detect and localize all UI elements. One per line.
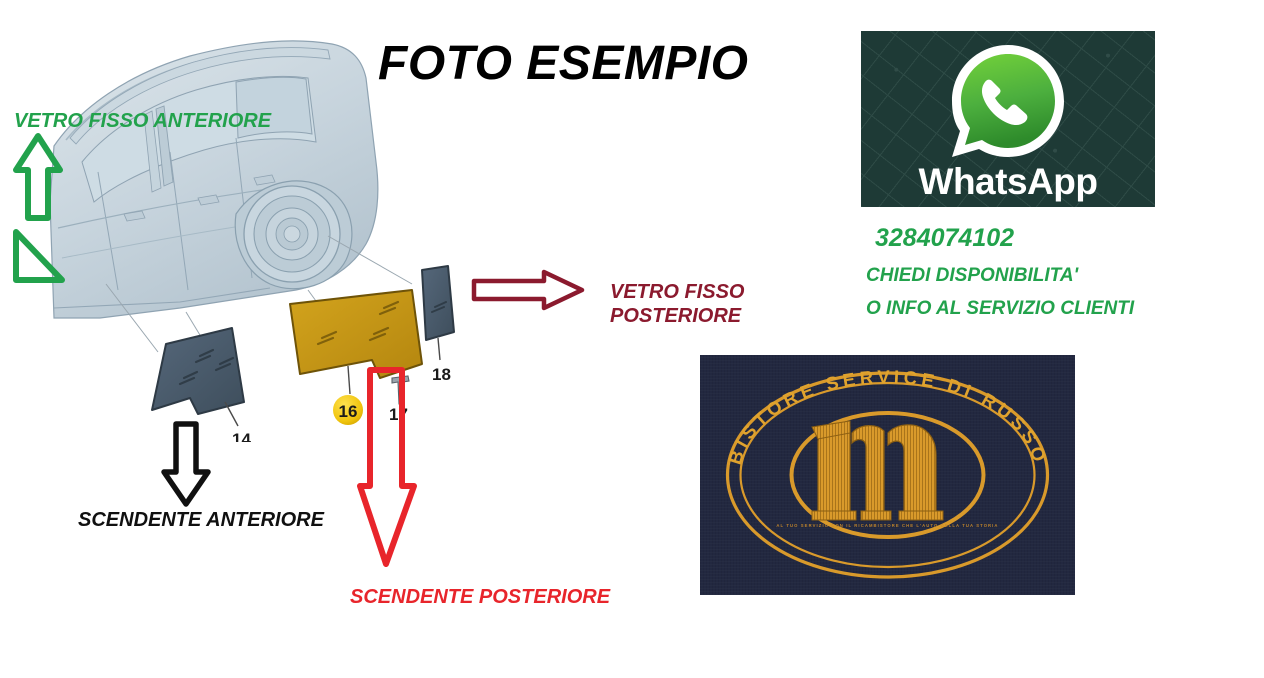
car-body-illustration: [50, 41, 378, 318]
arrow-right-icon: [470, 268, 586, 317]
logo-monogram: [812, 421, 943, 520]
label-text: SCENDENTE ANTERIORE: [78, 509, 324, 531]
svg-text:16: 16: [339, 402, 358, 421]
label-scendente-posteriore: SCENDENTE POSTERIORE: [350, 586, 610, 609]
contact-line-1: CHIEDI DISPONIBILITA': [866, 265, 1078, 287]
shop-logo-artwork: MRICAMBISTORE SERVICE DI RUSSO MARCO: [700, 355, 1075, 595]
page-title: FOTO ESEMPIO: [378, 36, 798, 91]
shop-logo: MRICAMBISTORE SERVICE DI RUSSO MARCO AL …: [700, 355, 1075, 595]
label-vetro-fisso-anteriore: VETRO FISSO ANTERIORE: [14, 110, 271, 133]
label-text-line-2: POSTERIORE: [610, 305, 744, 329]
screenshot-canvas: 14 16 17: [0, 0, 1264, 678]
label-text-line-1: VETRO FISSO: [610, 281, 744, 305]
arrow-up-icon: [12, 132, 64, 227]
label-vetro-fisso-posteriore: VETRO FISSO POSTERIORE: [610, 281, 744, 328]
triangle-marker-icon: [10, 226, 68, 291]
label-text: VETRO FISSO ANTERIORE: [14, 110, 271, 132]
whatsapp-wordmark: WhatsApp: [861, 161, 1155, 203]
part-number-18: 18: [432, 365, 451, 384]
phone-number[interactable]: 3284074102: [875, 224, 1014, 253]
contact-line-2: O INFO AL SERVIZIO CLIENTI: [866, 298, 1134, 320]
part-number-14: 14: [232, 430, 251, 442]
label-scendente-anteriore: SCENDENTE ANTERIORE: [78, 509, 324, 532]
logo-tagline: AL TUO SERVIZIO CON IL RICAMBISTORE CHE …: [700, 523, 1075, 528]
label-text: SCENDENTE POSTERIORE: [350, 586, 610, 608]
whatsapp-icon: [942, 39, 1074, 180]
arrow-down-icon: [356, 366, 420, 575]
arrow-down-icon: [158, 420, 214, 513]
part-18-glass-panel: 18: [422, 266, 454, 384]
whatsapp-banner[interactable]: WhatsApp: [861, 31, 1155, 207]
